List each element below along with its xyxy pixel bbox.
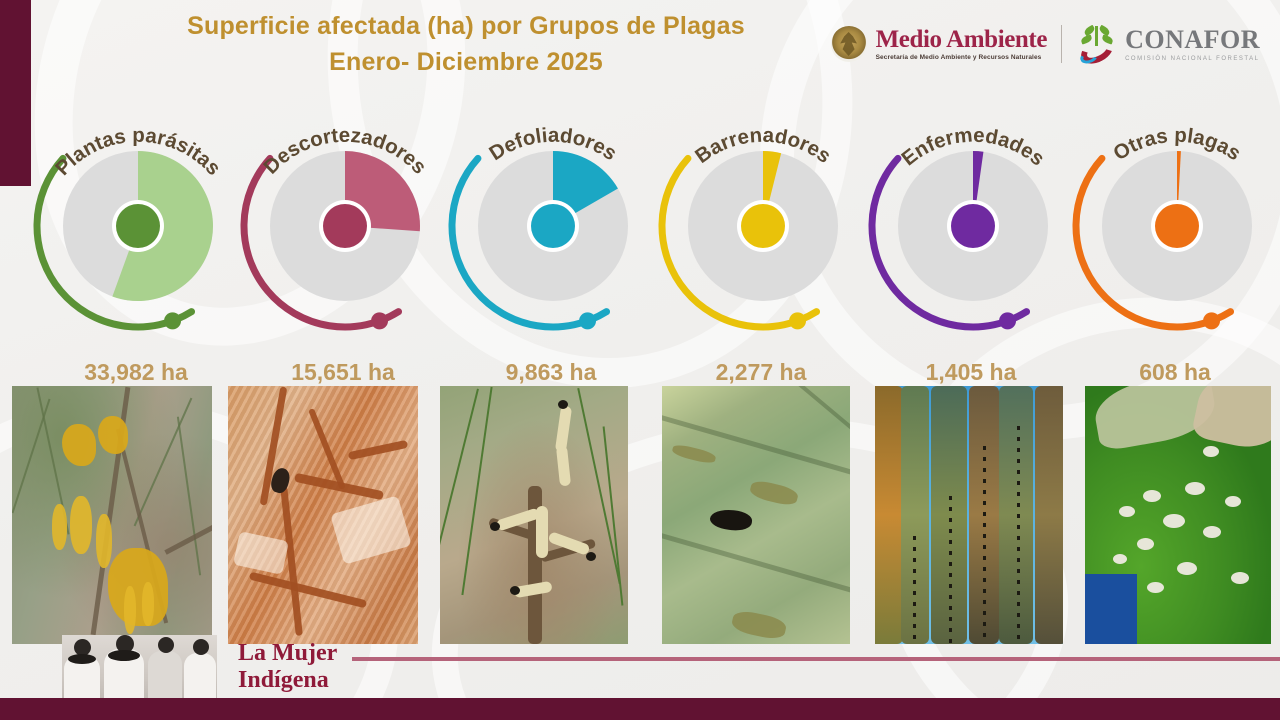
gauge-value: 1,405 ha [868,359,1074,386]
gauge-hub [323,204,367,248]
page-title: Superficie afectada (ha) por Grupos de P… [96,8,836,80]
title-line-2: Enero- Diciembre 2025 [96,44,836,80]
photo-mosca-blanca-en-hoja [1085,386,1271,644]
gauge-value: 2,277 ha [658,359,864,386]
photo-cactacea-barrenada [875,386,1063,644]
gauge-value: 608 ha [1072,359,1278,386]
gauge-hub [1155,204,1199,248]
gauge-value: 15,651 ha [240,359,446,386]
conafor-subtitle: COMISIÓN NACIONAL FORESTAL [1125,56,1260,62]
gauge-1[interactable]: Plantas parásitas 33,982 ha [33,96,239,386]
conafor-tree-icon [1076,24,1118,64]
gauge-arc-dot [579,312,596,329]
gauge-hub [531,204,575,248]
logo-divider [1061,25,1062,63]
title-line-1: Superficie afectada (ha) por Grupos de P… [96,8,836,44]
gauge-5[interactable]: Enfermedades 1,405 ha [868,96,1074,386]
gauge-hub [741,204,785,248]
photo-mujeres-indigenas [62,635,217,707]
gauge-3[interactable]: Defoliadores 9,863 ha [448,96,654,386]
gauge-arc-dot [789,312,806,329]
logo-bar: Medio Ambiente Secretaría de Medio Ambie… [831,24,1260,64]
photo-galerias-descortezador [228,386,418,644]
semarnat-name: Medio Ambiente [876,27,1047,52]
gauge-6[interactable]: Otras plagas 608 ha [1072,96,1278,386]
semarnat-logo: Medio Ambiente Secretaría de Medio Ambie… [831,26,1047,62]
photo-picudo-del-agave [662,386,850,644]
gauge-arc-dot [371,312,388,329]
campaign-line-2: Indígena [238,667,337,694]
gauge-arc-dot [999,312,1016,329]
gauge-hub [116,204,160,248]
campaign-line-1: La Mujer [238,640,337,667]
photo-larvas-defoliadoras-en-pino [440,386,628,644]
gauge-arc-dot [164,312,181,329]
gauge-arc-dot [1203,312,1220,329]
conafor-name: CONAFOR [1125,27,1260,53]
gauge-value: 9,863 ha [448,359,654,386]
gauge-hub [951,204,995,248]
gauge-4[interactable]: Barrenadores 2,277 ha [658,96,864,386]
mexican-coat-of-arms-icon [831,26,867,62]
photo-muerdago-en-pino [12,386,212,644]
slide-canvas: Superficie afectada (ha) por Grupos de P… [0,0,1280,720]
gauge-value: 33,982 ha [33,359,239,386]
gauge-2[interactable]: Descortezadores 15,651 ha [240,96,446,386]
semarnat-subtitle: Secretaría de Medio Ambiente y Recursos … [876,55,1047,62]
campaign-label: La Mujer Indígena [238,640,337,694]
footer-bar [0,698,1280,720]
conafor-logo: CONAFOR COMISIÓN NACIONAL FORESTAL [1076,24,1260,64]
gauge-row: Plantas parásitas 33,982 ha Descortezado… [0,96,1280,386]
campaign-rule [352,657,1280,661]
